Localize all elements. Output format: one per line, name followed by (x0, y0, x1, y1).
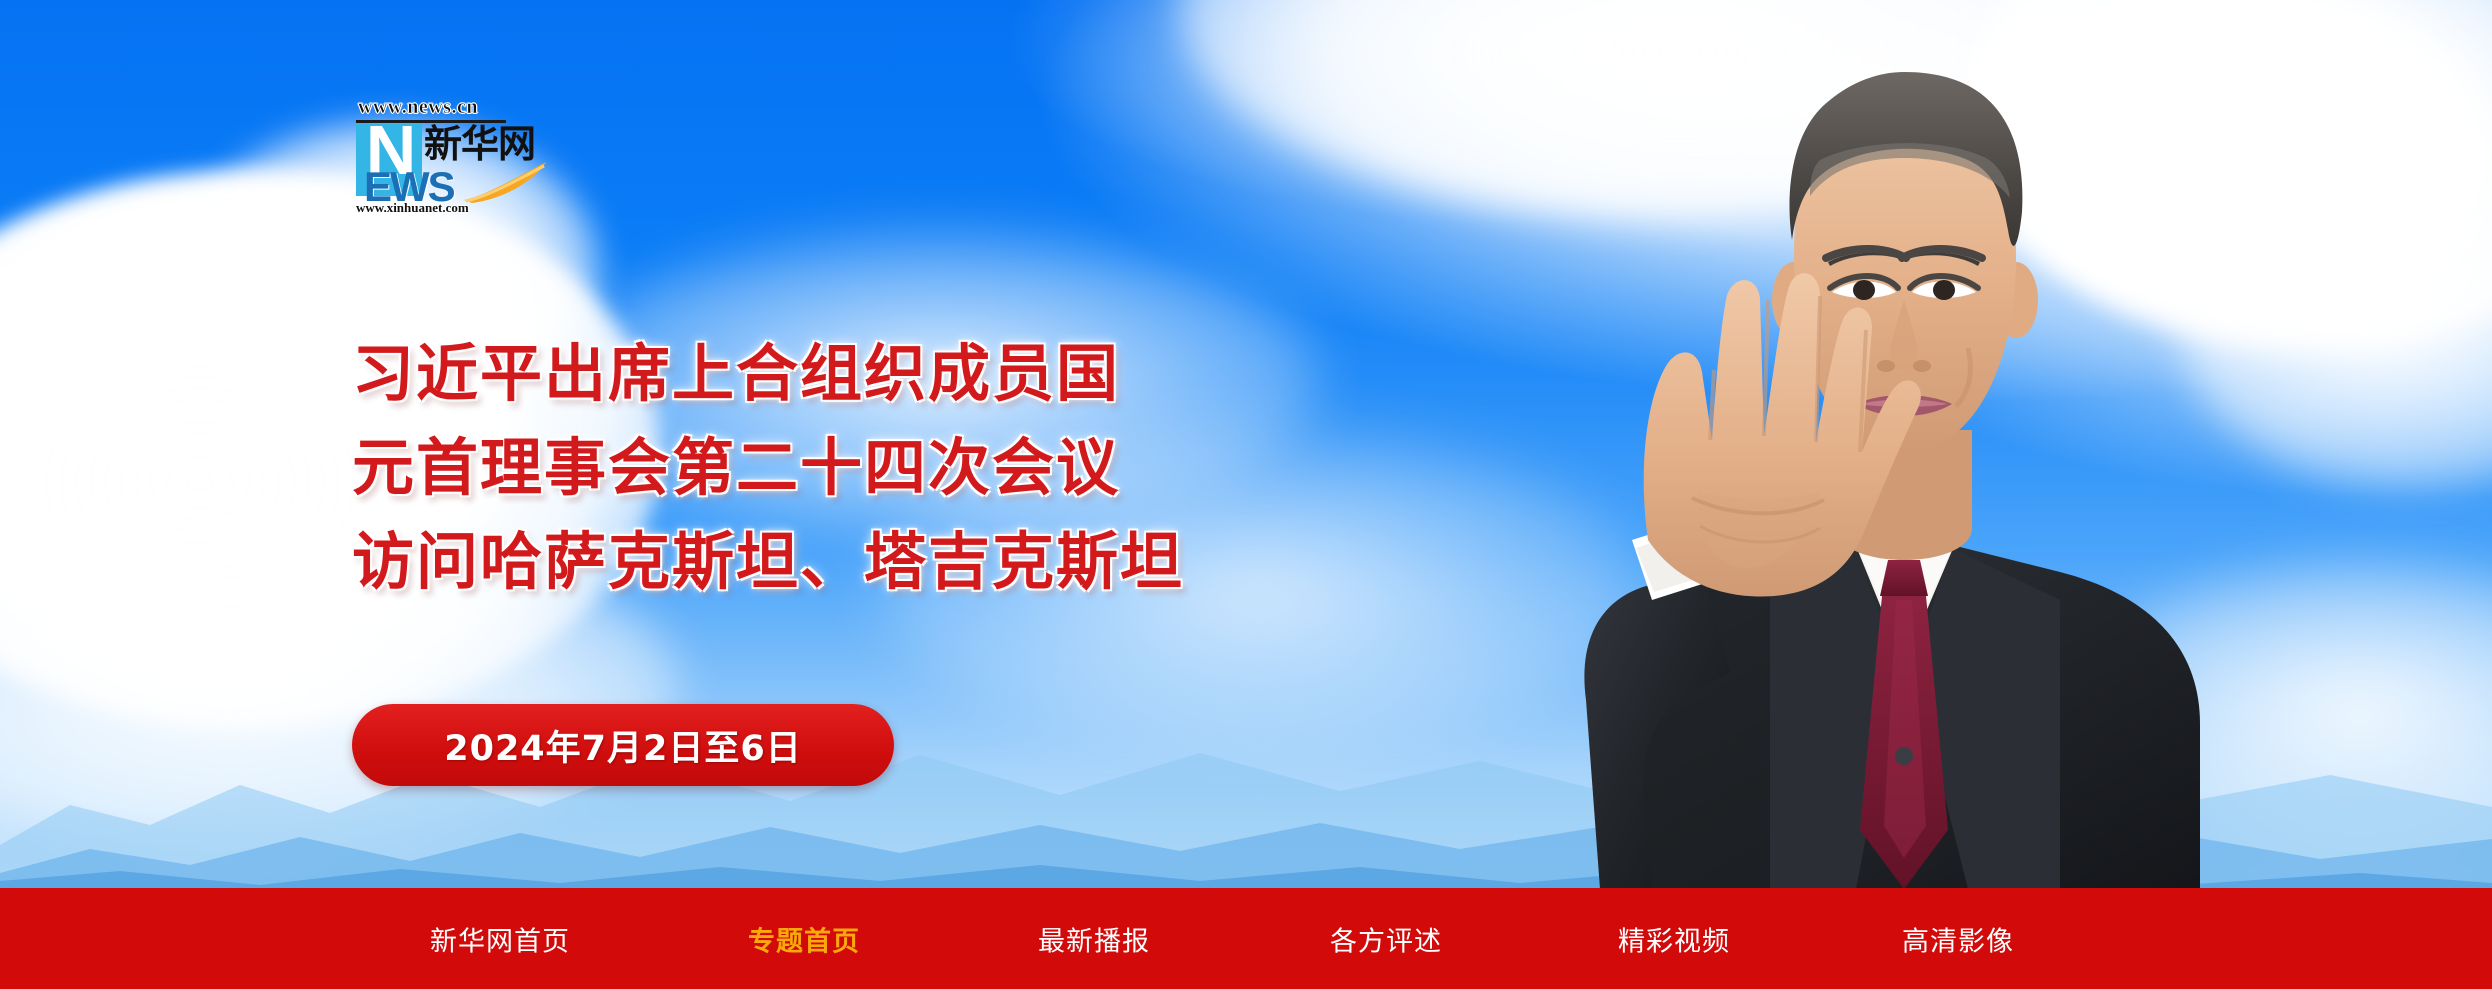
title-line-1: 习近平出席上合组织成员国 (352, 336, 1412, 412)
navigation-bar: 新华网首页专题首页最新播报各方评述精彩视频高清影像 (0, 888, 2492, 989)
nav-item-3[interactable]: 最新播报 (1038, 919, 1150, 958)
nav-item-1[interactable]: 新华网首页 (430, 919, 570, 958)
nav-item-4[interactable]: 各方评述 (1330, 919, 1442, 958)
date-badge-label: 2024年7月2日至6日 (444, 720, 801, 771)
title-line-2: 元首理事会第二十四次会议 (352, 430, 1412, 506)
logo-swoosh-icon (462, 160, 548, 204)
nav-item-5[interactable]: 精彩视频 (1618, 919, 1730, 958)
date-badge: 2024年7月2日至6日 (352, 704, 894, 786)
banner-title: 习近平出席上合组织成员国 元首理事会第二十四次会议 访问哈萨克斯坦、塔吉克斯坦 (352, 336, 1412, 618)
nav-item-6[interactable]: 高清影像 (1902, 919, 2014, 958)
banner-root: www.news.cn N 新华网 EWS www.xinhuanet.com … (0, 0, 2492, 989)
logo-url-bottom: www.xinhuanet.com (356, 200, 469, 216)
cloud-top-strip (1180, 0, 2180, 220)
portrait-photo (1300, 0, 2260, 889)
cloud-right-mid (2180, 160, 2492, 490)
logo-chinese-text: 新华网 (424, 124, 535, 164)
cloud-right-low (2080, 560, 2492, 860)
xinhua-logo[interactable]: www.news.cn N 新华网 EWS www.xinhuanet.com (350, 96, 546, 214)
cloud-right-top (1960, 0, 2492, 350)
title-line-3: 访问哈萨克斯坦、塔吉克斯坦 (352, 524, 1412, 600)
navigation-items: 新华网首页专题首页最新播报各方评述精彩视频高清影像 (0, 888, 2492, 989)
nav-item-2[interactable]: 专题首页 (748, 919, 860, 958)
